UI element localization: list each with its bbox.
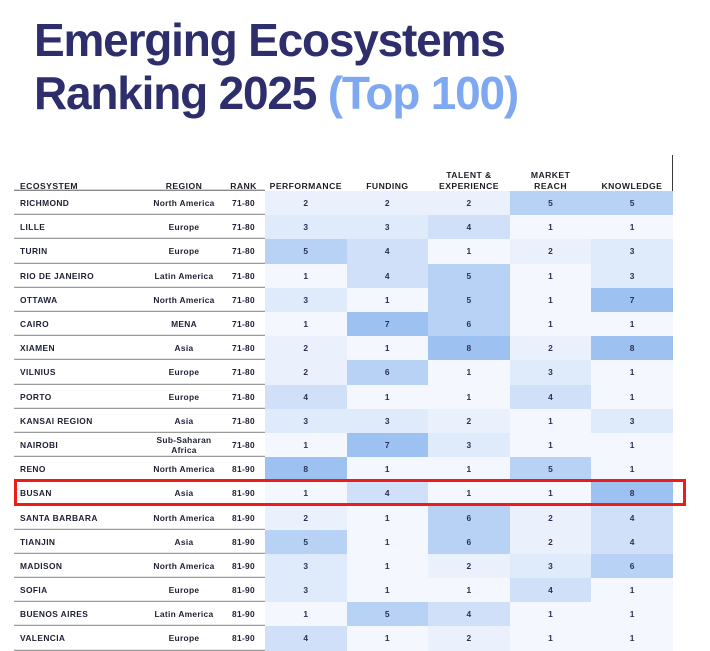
cell-region: Europe [146, 215, 222, 239]
column-header-region[interactable]: REGION [146, 155, 222, 191]
cell-knowledge: 1 [591, 215, 673, 239]
cell-ecosystem: MADISON [14, 554, 146, 578]
cell-talent-experience: 6 [428, 530, 510, 554]
cell-region: MENA [146, 312, 222, 336]
cell-market-reach: 2 [510, 530, 592, 554]
cell-rank: 71-80 [222, 191, 265, 215]
cell-rank: 81-90 [222, 554, 265, 578]
cell-rank: 81-90 [222, 626, 265, 650]
cell-talent-experience: 1 [428, 239, 510, 263]
cell-ecosystem: VILNIUS [14, 360, 146, 384]
cell-performance: 5 [265, 530, 347, 554]
cell-region: North America [146, 554, 222, 578]
cell-talent-experience: 8 [428, 336, 510, 360]
ranking-table-wrapper: ECOSYSTEM REGION RANK PERFORMANCE FUNDIN… [14, 155, 690, 651]
cell-funding: 1 [347, 578, 429, 602]
cell-rank: 81-90 [222, 457, 265, 481]
table-row[interactable]: RIO DE JANEIROLatin America71-8014513 [14, 264, 673, 288]
cell-performance: 3 [265, 578, 347, 602]
cell-talent-experience: 6 [428, 312, 510, 336]
column-header-market-reach[interactable]: MARKET REACH [510, 155, 592, 191]
cell-region: Asia [146, 530, 222, 554]
cell-funding: 4 [347, 264, 429, 288]
cell-knowledge: 1 [591, 602, 673, 626]
cell-ecosystem: RENO [14, 457, 146, 481]
cell-performance: 8 [265, 457, 347, 481]
title-line-2: Ranking 2025 (Top 100) [34, 67, 710, 120]
cell-market-reach: 1 [510, 215, 592, 239]
cell-performance: 4 [265, 385, 347, 409]
cell-performance: 1 [265, 312, 347, 336]
cell-funding: 2 [347, 191, 429, 215]
cell-funding: 1 [347, 505, 429, 529]
cell-funding: 7 [347, 312, 429, 336]
cell-talent-experience: 5 [428, 288, 510, 312]
table-row[interactable]: RENONorth America81-9081151 [14, 457, 673, 481]
cell-market-reach: 3 [510, 554, 592, 578]
cell-ecosystem: XIAMEN [14, 336, 146, 360]
cell-rank: 81-90 [222, 578, 265, 602]
table-row[interactable]: OTTAWANorth America71-8031517 [14, 288, 673, 312]
cell-market-reach: 3 [510, 360, 592, 384]
cell-knowledge: 4 [591, 530, 673, 554]
cell-performance: 3 [265, 288, 347, 312]
cell-market-reach: 1 [510, 409, 592, 433]
table-row[interactable]: PORTOEurope71-8041141 [14, 385, 673, 409]
column-header-funding[interactable]: FUNDING [347, 155, 429, 191]
cell-market-reach: 1 [510, 312, 592, 336]
cell-knowledge: 1 [591, 578, 673, 602]
table-row[interactable]: SANTA BARBARANorth America81-9021624 [14, 505, 673, 529]
cell-funding: 1 [347, 554, 429, 578]
cell-market-reach: 4 [510, 578, 592, 602]
cell-knowledge: 1 [591, 457, 673, 481]
table-row[interactable]: TURINEurope71-8054123 [14, 239, 673, 263]
cell-rank: 71-80 [222, 336, 265, 360]
cell-funding: 4 [347, 239, 429, 263]
cell-ecosystem: SOFIA [14, 578, 146, 602]
cell-funding: 3 [347, 409, 429, 433]
cell-market-reach: 2 [510, 336, 592, 360]
cell-talent-experience: 5 [428, 264, 510, 288]
cell-rank: 71-80 [222, 239, 265, 263]
title-line-2-main: Ranking 2025 [34, 67, 328, 119]
cell-funding: 6 [347, 360, 429, 384]
cell-talent-experience: 1 [428, 457, 510, 481]
cell-rank: 81-90 [222, 481, 265, 505]
cell-talent-experience: 4 [428, 215, 510, 239]
cell-talent-experience: 1 [428, 578, 510, 602]
cell-performance: 1 [265, 264, 347, 288]
cell-market-reach: 1 [510, 626, 592, 650]
table-header: ECOSYSTEM REGION RANK PERFORMANCE FUNDIN… [14, 155, 673, 191]
cell-talent-experience: 1 [428, 481, 510, 505]
cell-performance: 5 [265, 239, 347, 263]
cell-ecosystem: KANSAI REGION [14, 409, 146, 433]
cell-rank: 71-80 [222, 360, 265, 384]
cell-region: Latin America [146, 264, 222, 288]
title-line-1: Emerging Ecosystems [34, 14, 710, 67]
cell-knowledge: 5 [591, 191, 673, 215]
cell-performance: 2 [265, 360, 347, 384]
cell-funding: 1 [347, 288, 429, 312]
table-row[interactable]: LILLEEurope71-8033411 [14, 215, 673, 239]
cell-knowledge: 1 [591, 360, 673, 384]
cell-ecosystem: PORTO [14, 385, 146, 409]
cell-market-reach: 4 [510, 385, 592, 409]
cell-region: Europe [146, 626, 222, 650]
cell-rank: 71-80 [222, 312, 265, 336]
cell-region: Asia [146, 481, 222, 505]
table-body: RICHMONDNorth America71-8022255LILLEEuro… [14, 191, 673, 651]
cell-performance: 3 [265, 554, 347, 578]
cell-funding: 1 [347, 626, 429, 650]
cell-market-reach: 5 [510, 457, 592, 481]
cell-knowledge: 1 [591, 433, 673, 457]
talent-header-line-1: TALENT & [446, 170, 491, 180]
cell-ecosystem: BUSAN [14, 481, 146, 505]
ranking-table: ECOSYSTEM REGION RANK PERFORMANCE FUNDIN… [14, 155, 673, 651]
cell-ecosystem: NAIROBI [14, 433, 146, 457]
cell-performance: 2 [265, 336, 347, 360]
cell-region: Latin America [146, 602, 222, 626]
cell-knowledge: 7 [591, 288, 673, 312]
talent-header-line-2: EXPERIENCE [439, 181, 499, 191]
cell-funding: 7 [347, 433, 429, 457]
cell-region: North America [146, 288, 222, 312]
cell-knowledge: 8 [591, 481, 673, 505]
cell-funding: 1 [347, 336, 429, 360]
cell-region: Sub-Saharan Africa [146, 433, 222, 457]
cell-knowledge: 1 [591, 385, 673, 409]
cell-knowledge: 1 [591, 312, 673, 336]
table-row[interactable]: BUENOS AIRESLatin America81-9015411 [14, 602, 673, 626]
cell-funding: 5 [347, 602, 429, 626]
table-header-row: ECOSYSTEM REGION RANK PERFORMANCE FUNDIN… [14, 155, 673, 191]
cell-rank: 71-80 [222, 264, 265, 288]
cell-ecosystem: SANTA BARBARA [14, 505, 146, 529]
market-header-line-1: MARKET [531, 170, 570, 180]
cell-talent-experience: 3 [428, 433, 510, 457]
cell-talent-experience: 2 [428, 409, 510, 433]
cell-talent-experience: 6 [428, 505, 510, 529]
cell-market-reach: 1 [510, 264, 592, 288]
cell-knowledge: 4 [591, 505, 673, 529]
cell-rank: 81-90 [222, 505, 265, 529]
cell-talent-experience: 2 [428, 626, 510, 650]
cell-region: Europe [146, 578, 222, 602]
cell-knowledge: 1 [591, 626, 673, 650]
cell-market-reach: 1 [510, 481, 592, 505]
column-header-rank[interactable]: RANK [222, 155, 265, 191]
cell-market-reach: 1 [510, 433, 592, 457]
column-header-ecosystem[interactable]: ECOSYSTEM [14, 155, 146, 191]
cell-talent-experience: 1 [428, 360, 510, 384]
cell-region: Asia [146, 409, 222, 433]
cell-performance: 2 [265, 505, 347, 529]
cell-performance: 1 [265, 481, 347, 505]
cell-rank: 81-90 [222, 530, 265, 554]
table-row[interactable]: SOFIAEurope81-9031141 [14, 578, 673, 602]
cell-rank: 71-80 [222, 433, 265, 457]
cell-market-reach: 2 [510, 505, 592, 529]
table-row[interactable]: XIAMENAsia71-8021828 [14, 336, 673, 360]
cell-ecosystem: CAIRO [14, 312, 146, 336]
table-row[interactable]: VILNIUSEurope71-8026131 [14, 360, 673, 384]
cell-talent-experience: 2 [428, 554, 510, 578]
cell-rank: 71-80 [222, 215, 265, 239]
cell-knowledge: 3 [591, 239, 673, 263]
cell-rank: 71-80 [222, 385, 265, 409]
cell-market-reach: 5 [510, 191, 592, 215]
cell-knowledge: 8 [591, 336, 673, 360]
table-row[interactable]: KANSAI REGIONAsia71-8033213 [14, 409, 673, 433]
cell-ecosystem: RICHMOND [14, 191, 146, 215]
cell-funding: 3 [347, 215, 429, 239]
cell-region: North America [146, 505, 222, 529]
cell-talent-experience: 1 [428, 385, 510, 409]
cell-ecosystem: BUENOS AIRES [14, 602, 146, 626]
cell-funding: 1 [347, 530, 429, 554]
cell-performance: 4 [265, 626, 347, 650]
cell-performance: 3 [265, 409, 347, 433]
cell-market-reach: 2 [510, 239, 592, 263]
cell-region: Europe [146, 239, 222, 263]
cell-knowledge: 3 [591, 409, 673, 433]
cell-performance: 2 [265, 191, 347, 215]
page-title: Emerging Ecosystems Ranking 2025 (Top 10… [0, 0, 710, 120]
cell-region: North America [146, 191, 222, 215]
cell-region: North America [146, 457, 222, 481]
cell-knowledge: 3 [591, 264, 673, 288]
cell-talent-experience: 4 [428, 602, 510, 626]
table-row[interactable]: NAIROBISub-Saharan Africa71-8017311 [14, 433, 673, 457]
table-row[interactable]: CAIROMENA71-8017611 [14, 312, 673, 336]
cell-talent-experience: 2 [428, 191, 510, 215]
cell-rank: 71-80 [222, 409, 265, 433]
column-header-knowledge[interactable]: KNOWLEDGE [591, 155, 673, 191]
cell-ecosystem: LILLE [14, 215, 146, 239]
cell-knowledge: 6 [591, 554, 673, 578]
cell-funding: 1 [347, 457, 429, 481]
column-header-talent-experience[interactable]: TALENT & EXPERIENCE [428, 155, 510, 191]
cell-performance: 1 [265, 433, 347, 457]
cell-ecosystem: TURIN [14, 239, 146, 263]
table-row[interactable]: RICHMONDNorth America71-8022255 [14, 191, 673, 215]
cell-funding: 4 [347, 481, 429, 505]
cell-region: Asia [146, 336, 222, 360]
table-row[interactable]: VALENCIAEurope81-9041211 [14, 626, 673, 650]
market-header-line-2: REACH [534, 181, 567, 191]
table-row[interactable]: TIANJINAsia81-9051624 [14, 530, 673, 554]
cell-ecosystem: OTTAWA [14, 288, 146, 312]
cell-rank: 71-80 [222, 288, 265, 312]
cell-ecosystem: VALENCIA [14, 626, 146, 650]
cell-market-reach: 1 [510, 288, 592, 312]
cell-performance: 3 [265, 215, 347, 239]
cell-region: Europe [146, 360, 222, 384]
cell-funding: 1 [347, 385, 429, 409]
table-row[interactable]: MADISONNorth America81-9031236 [14, 554, 673, 578]
table-row[interactable]: BUSANAsia81-9014118 [14, 481, 673, 505]
cell-market-reach: 1 [510, 602, 592, 626]
cell-performance: 1 [265, 602, 347, 626]
cell-ecosystem: TIANJIN [14, 530, 146, 554]
cell-region: Europe [146, 385, 222, 409]
cell-rank: 81-90 [222, 602, 265, 626]
cell-ecosystem: RIO DE JANEIRO [14, 264, 146, 288]
column-header-performance[interactable]: PERFORMANCE [265, 155, 347, 191]
title-line-2-accent: (Top 100) [328, 67, 518, 119]
